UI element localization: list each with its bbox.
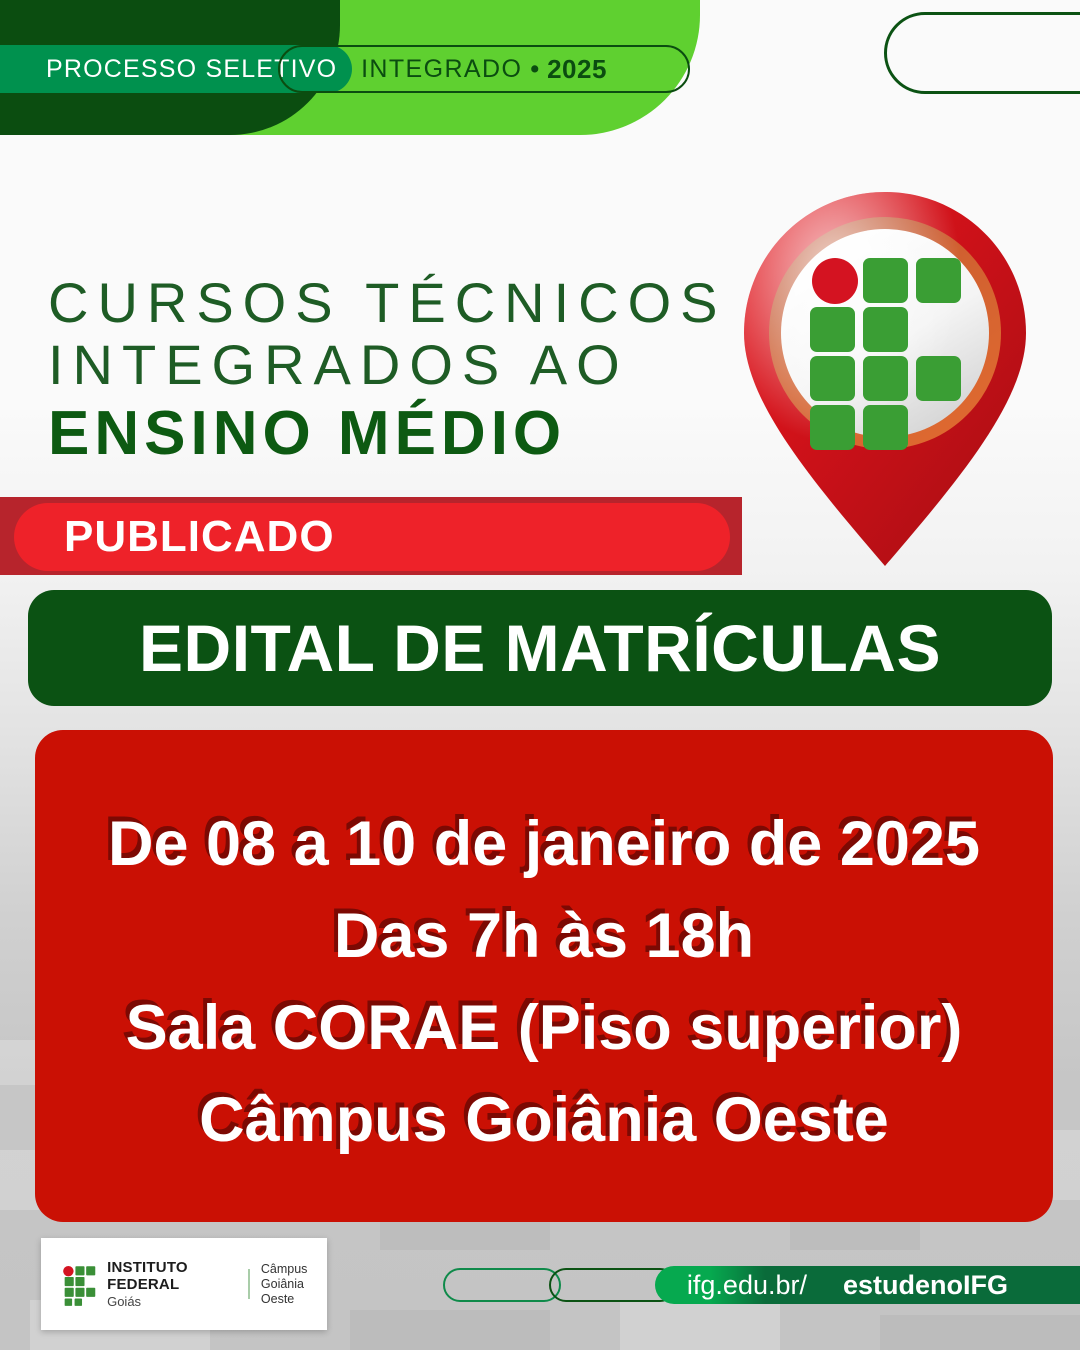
edital-banner: EDITAL DE MATRÍCULAS — [28, 590, 1052, 706]
footer-divider — [248, 1269, 250, 1299]
footer-url-prefix: ifg.edu.br/ — [687, 1270, 807, 1300]
info-line-campus: Câmpus Goiânia Oeste — [199, 1074, 889, 1166]
status-badge-label: PUBLICADO — [64, 512, 335, 562]
year-label: 2025 — [547, 54, 607, 85]
info-line-date: De 08 a 10 de janeiro de 2025 — [108, 798, 980, 890]
ifg-logo-icon — [63, 1262, 96, 1306]
edital-banner-label: EDITAL DE MATRÍCULAS — [139, 610, 941, 686]
status-badge: PUBLICADO — [14, 503, 730, 571]
badge-separator-dot: • — [530, 55, 539, 84]
footer-url-bold: estudenoIFG — [843, 1270, 1008, 1300]
footer-logo-card: INSTITUTO FEDERAL Goiás Câmpus Goiânia O… — [41, 1238, 327, 1330]
footer-state-name: Goiás — [107, 1294, 237, 1309]
info-line-hours: Das 7h às 18h — [334, 890, 754, 982]
map-pin-logo — [735, 188, 1035, 570]
footer-institution-block: INSTITUTO FEDERAL Goiás — [107, 1259, 237, 1309]
integrated-year-badge: INTEGRADO • 2025 — [278, 45, 690, 93]
footer-campus-block: Câmpus Goiânia Oeste — [261, 1262, 327, 1307]
title-line-2: INTEGRADOS AO — [48, 334, 748, 396]
footer-url-bar[interactable]: ifg.edu.br/estudenoIFG — [655, 1266, 1080, 1304]
footer-outline-pill-1 — [443, 1268, 561, 1302]
page-title: CURSOS TÉCNICOS INTEGRADOS AO ENSINO MÉD… — [48, 272, 748, 470]
map-pin-ifg-logo-icon — [735, 188, 1035, 570]
info-panel: De 08 a 10 de janeiro de 2025 Das 7h às … — [35, 730, 1053, 1222]
title-line-1: CURSOS TÉCNICOS — [48, 272, 748, 334]
footer-institution-name: INSTITUTO FEDERAL — [107, 1259, 237, 1293]
info-line-location: Sala CORAE (Piso superior) — [126, 982, 963, 1074]
poster-canvas: PROCESSO SELETIVO INTEGRADO • 2025 CURSO… — [0, 0, 1080, 1350]
title-line-3: ENSINO MÉDIO — [48, 398, 748, 470]
footer-url-text: ifg.edu.br/estudenoIFG — [687, 1270, 1044, 1301]
footer-campus-line-2: Goiânia Oeste — [261, 1277, 327, 1307]
footer-campus-line-1: Câmpus — [261, 1262, 327, 1277]
header-right-outline-shape — [884, 12, 1080, 94]
header-bar: PROCESSO SELETIVO INTEGRADO • 2025 — [0, 0, 1080, 140]
integrated-label: INTEGRADO — [361, 55, 522, 84]
